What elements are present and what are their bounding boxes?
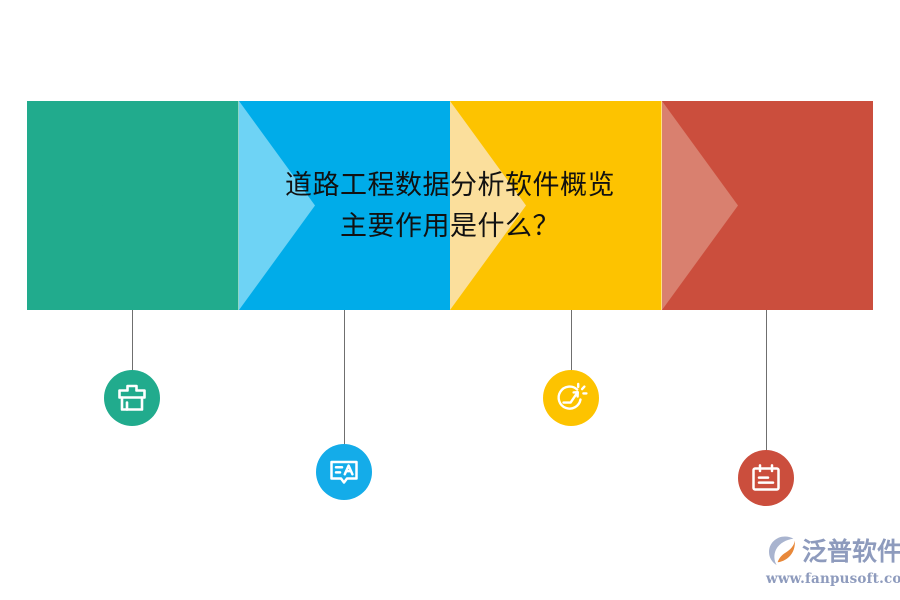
segment-green[interactable]	[27, 101, 239, 310]
connector-line-3	[571, 310, 572, 372]
chevron-banner	[27, 101, 873, 310]
icon-badge-calendar[interactable]	[738, 450, 794, 506]
segment-yellow[interactable]	[450, 101, 662, 310]
brand-name: 泛普软件	[802, 535, 900, 569]
icon-badge-gauge[interactable]	[543, 370, 599, 426]
store-icon	[115, 381, 149, 415]
translate-icon	[327, 455, 361, 489]
icon-badge-translate[interactable]	[316, 444, 372, 500]
icon-badge-store[interactable]	[104, 370, 160, 426]
segment-green-shape	[27, 101, 239, 310]
connector-line-1	[132, 310, 133, 372]
connector-line-4	[766, 310, 767, 452]
poster-canvas: 道路工程数据分析软件概览 主要作用是什么？	[0, 0, 900, 600]
segment-blue-shape	[239, 101, 451, 310]
brand-url: www.fanpusoft.com	[766, 571, 888, 587]
segment-yellow-shape	[450, 101, 662, 310]
fanpu-logo-icon	[766, 535, 800, 569]
gauge-arrow-icon	[553, 380, 589, 416]
segment-red-shape	[662, 101, 874, 310]
connector-line-2	[344, 310, 345, 446]
segment-red[interactable]	[662, 101, 874, 310]
calendar-note-icon	[749, 461, 783, 495]
segment-blue[interactable]	[239, 101, 451, 310]
brand-logo: 泛普软件 www.fanpusoft.com	[766, 534, 888, 590]
